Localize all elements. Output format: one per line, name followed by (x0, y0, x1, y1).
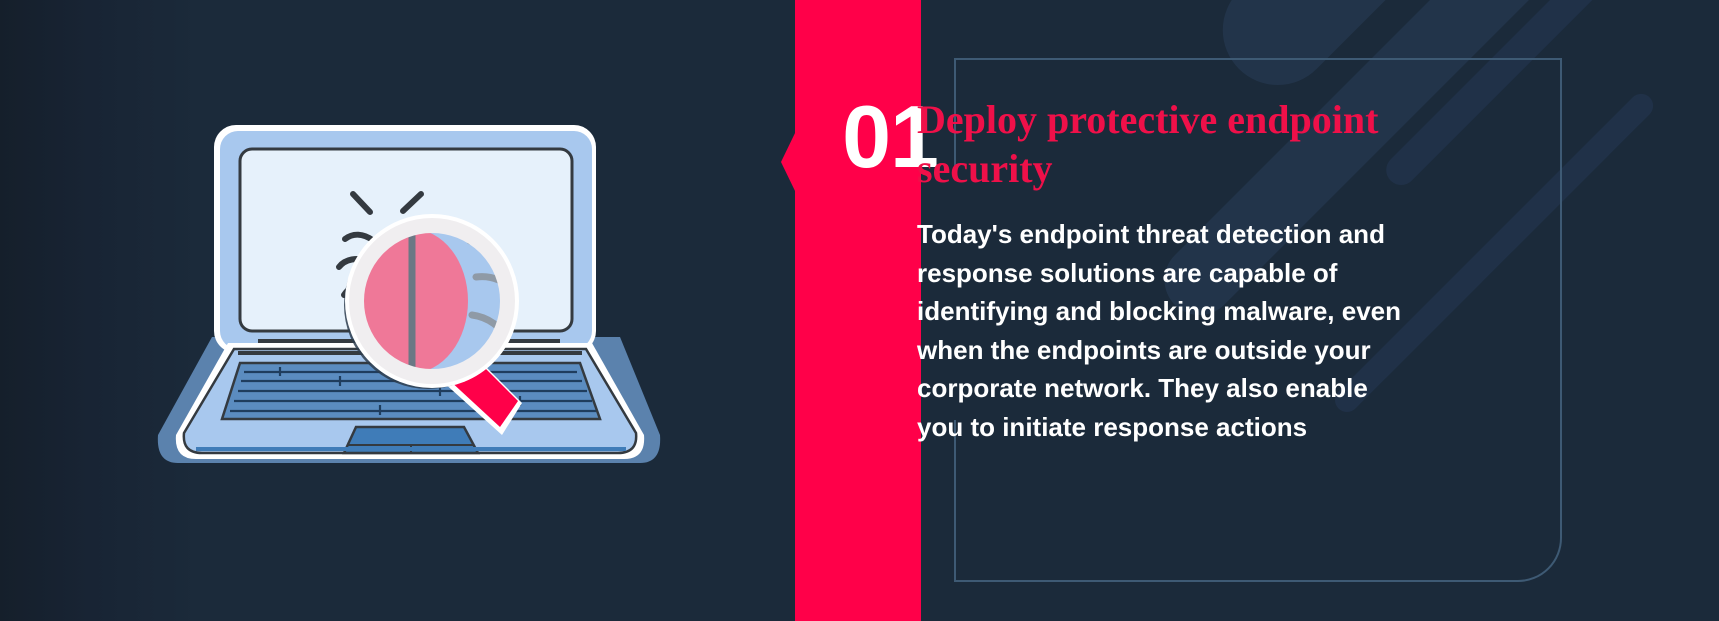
laptop-illustration (140, 105, 680, 500)
body-copy: Today's endpoint threat detection and re… (917, 215, 1417, 447)
infographic-slide: 01 Deploy protective endpoint security T… (0, 0, 1719, 621)
content-block: Deploy protective endpoint security Toda… (917, 95, 1427, 447)
headline: Deploy protective endpoint security (917, 95, 1427, 193)
step-number: 01 (778, 93, 938, 181)
